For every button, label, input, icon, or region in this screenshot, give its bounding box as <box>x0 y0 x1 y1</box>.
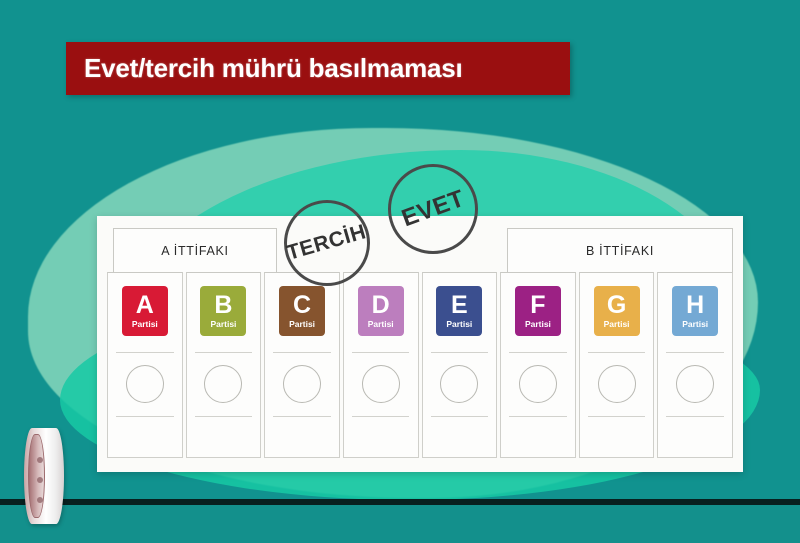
vote-circle-b[interactable] <box>204 365 242 403</box>
column-divider <box>195 416 252 417</box>
column-divider <box>509 352 566 353</box>
column-divider <box>352 416 409 417</box>
party-logo-h: HPartisi <box>672 286 718 336</box>
stamp-tercih[interactable]: TERCİH <box>284 200 370 286</box>
party-letter: A <box>136 293 154 318</box>
party-logo-e: EPartisi <box>436 286 482 336</box>
party-columns: APartisiBPartisiCPartisiDPartisiEPartisi… <box>107 272 733 458</box>
party-letter: G <box>607 293 626 318</box>
party-sublabel: Partisi <box>289 320 315 329</box>
vote-circle-d[interactable] <box>362 365 400 403</box>
party-letter: H <box>686 293 704 318</box>
scene: Evet/tercih mührü basılmaması A İTTİFAKI… <box>0 0 800 543</box>
page-title: Evet/tercih mührü basılmaması <box>84 53 463 84</box>
party-letter: F <box>530 293 545 318</box>
vote-circle-h[interactable] <box>676 365 714 403</box>
column-divider <box>116 352 173 353</box>
vote-circle-a[interactable] <box>126 365 164 403</box>
table-front <box>0 505 800 543</box>
party-sublabel: Partisi <box>682 320 708 329</box>
party-sublabel: Partisi <box>604 320 630 329</box>
party-sublabel: Partisi <box>210 320 236 329</box>
column-divider <box>352 352 409 353</box>
vote-circle-e[interactable] <box>440 365 478 403</box>
vote-circle-c[interactable] <box>283 365 321 403</box>
party-column-h[interactable]: HPartisi <box>657 272 733 458</box>
party-column-g[interactable]: GPartisi <box>579 272 655 458</box>
column-divider <box>666 352 723 353</box>
vote-circle-f[interactable] <box>519 365 557 403</box>
stamp-evet[interactable]: EVET <box>388 164 478 254</box>
party-sublabel: Partisi <box>446 320 472 329</box>
party-logo-c: CPartisi <box>279 286 325 336</box>
party-letter: B <box>214 293 232 318</box>
alliance-label-a: A İTTİFAKI <box>161 244 228 258</box>
party-sublabel: Partisi <box>132 320 158 329</box>
stamp-pad-dot-icon <box>37 457 43 463</box>
ink-stamp-pad[interactable] <box>24 428 64 524</box>
party-letter: E <box>451 293 468 318</box>
vote-circle-g[interactable] <box>598 365 636 403</box>
party-letter: D <box>372 293 390 318</box>
party-column-b[interactable]: BPartisi <box>186 272 262 458</box>
stamp-evet-label: EVET <box>398 185 468 233</box>
party-logo-g: GPartisi <box>594 286 640 336</box>
party-letter: C <box>293 293 311 318</box>
party-column-a[interactable]: APartisi <box>107 272 183 458</box>
stamp-pad-dot-icon <box>37 477 43 483</box>
column-divider <box>588 416 645 417</box>
column-divider <box>116 416 173 417</box>
column-divider <box>509 416 566 417</box>
alliance-box-b: B İTTİFAKI <box>507 228 733 272</box>
party-column-e[interactable]: EPartisi <box>422 272 498 458</box>
ballot-paper: A İTTİFAKI B İTTİFAKI APartisiBPartisiCP… <box>97 216 743 472</box>
stamp-pad-inner <box>28 434 45 518</box>
alliance-box-a: A İTTİFAKI <box>113 228 277 272</box>
stamp-tercih-label: TERCİH <box>285 220 370 265</box>
column-divider <box>273 352 330 353</box>
column-divider <box>588 352 645 353</box>
column-divider <box>666 416 723 417</box>
party-column-f[interactable]: FPartisi <box>500 272 576 458</box>
column-divider <box>431 416 488 417</box>
party-logo-f: FPartisi <box>515 286 561 336</box>
column-divider <box>273 416 330 417</box>
party-sublabel: Partisi <box>525 320 551 329</box>
party-sublabel: Partisi <box>368 320 394 329</box>
party-logo-a: APartisi <box>122 286 168 336</box>
column-divider <box>195 352 252 353</box>
party-column-d[interactable]: DPartisi <box>343 272 419 458</box>
column-divider <box>431 352 488 353</box>
stamp-pad-dot-icon <box>37 497 43 503</box>
party-column-c[interactable]: CPartisi <box>264 272 340 458</box>
party-logo-d: DPartisi <box>358 286 404 336</box>
party-logo-b: BPartisi <box>200 286 246 336</box>
alliance-label-b: B İTTİFAKI <box>586 244 654 258</box>
title-banner: Evet/tercih mührü basılmaması <box>66 42 570 95</box>
